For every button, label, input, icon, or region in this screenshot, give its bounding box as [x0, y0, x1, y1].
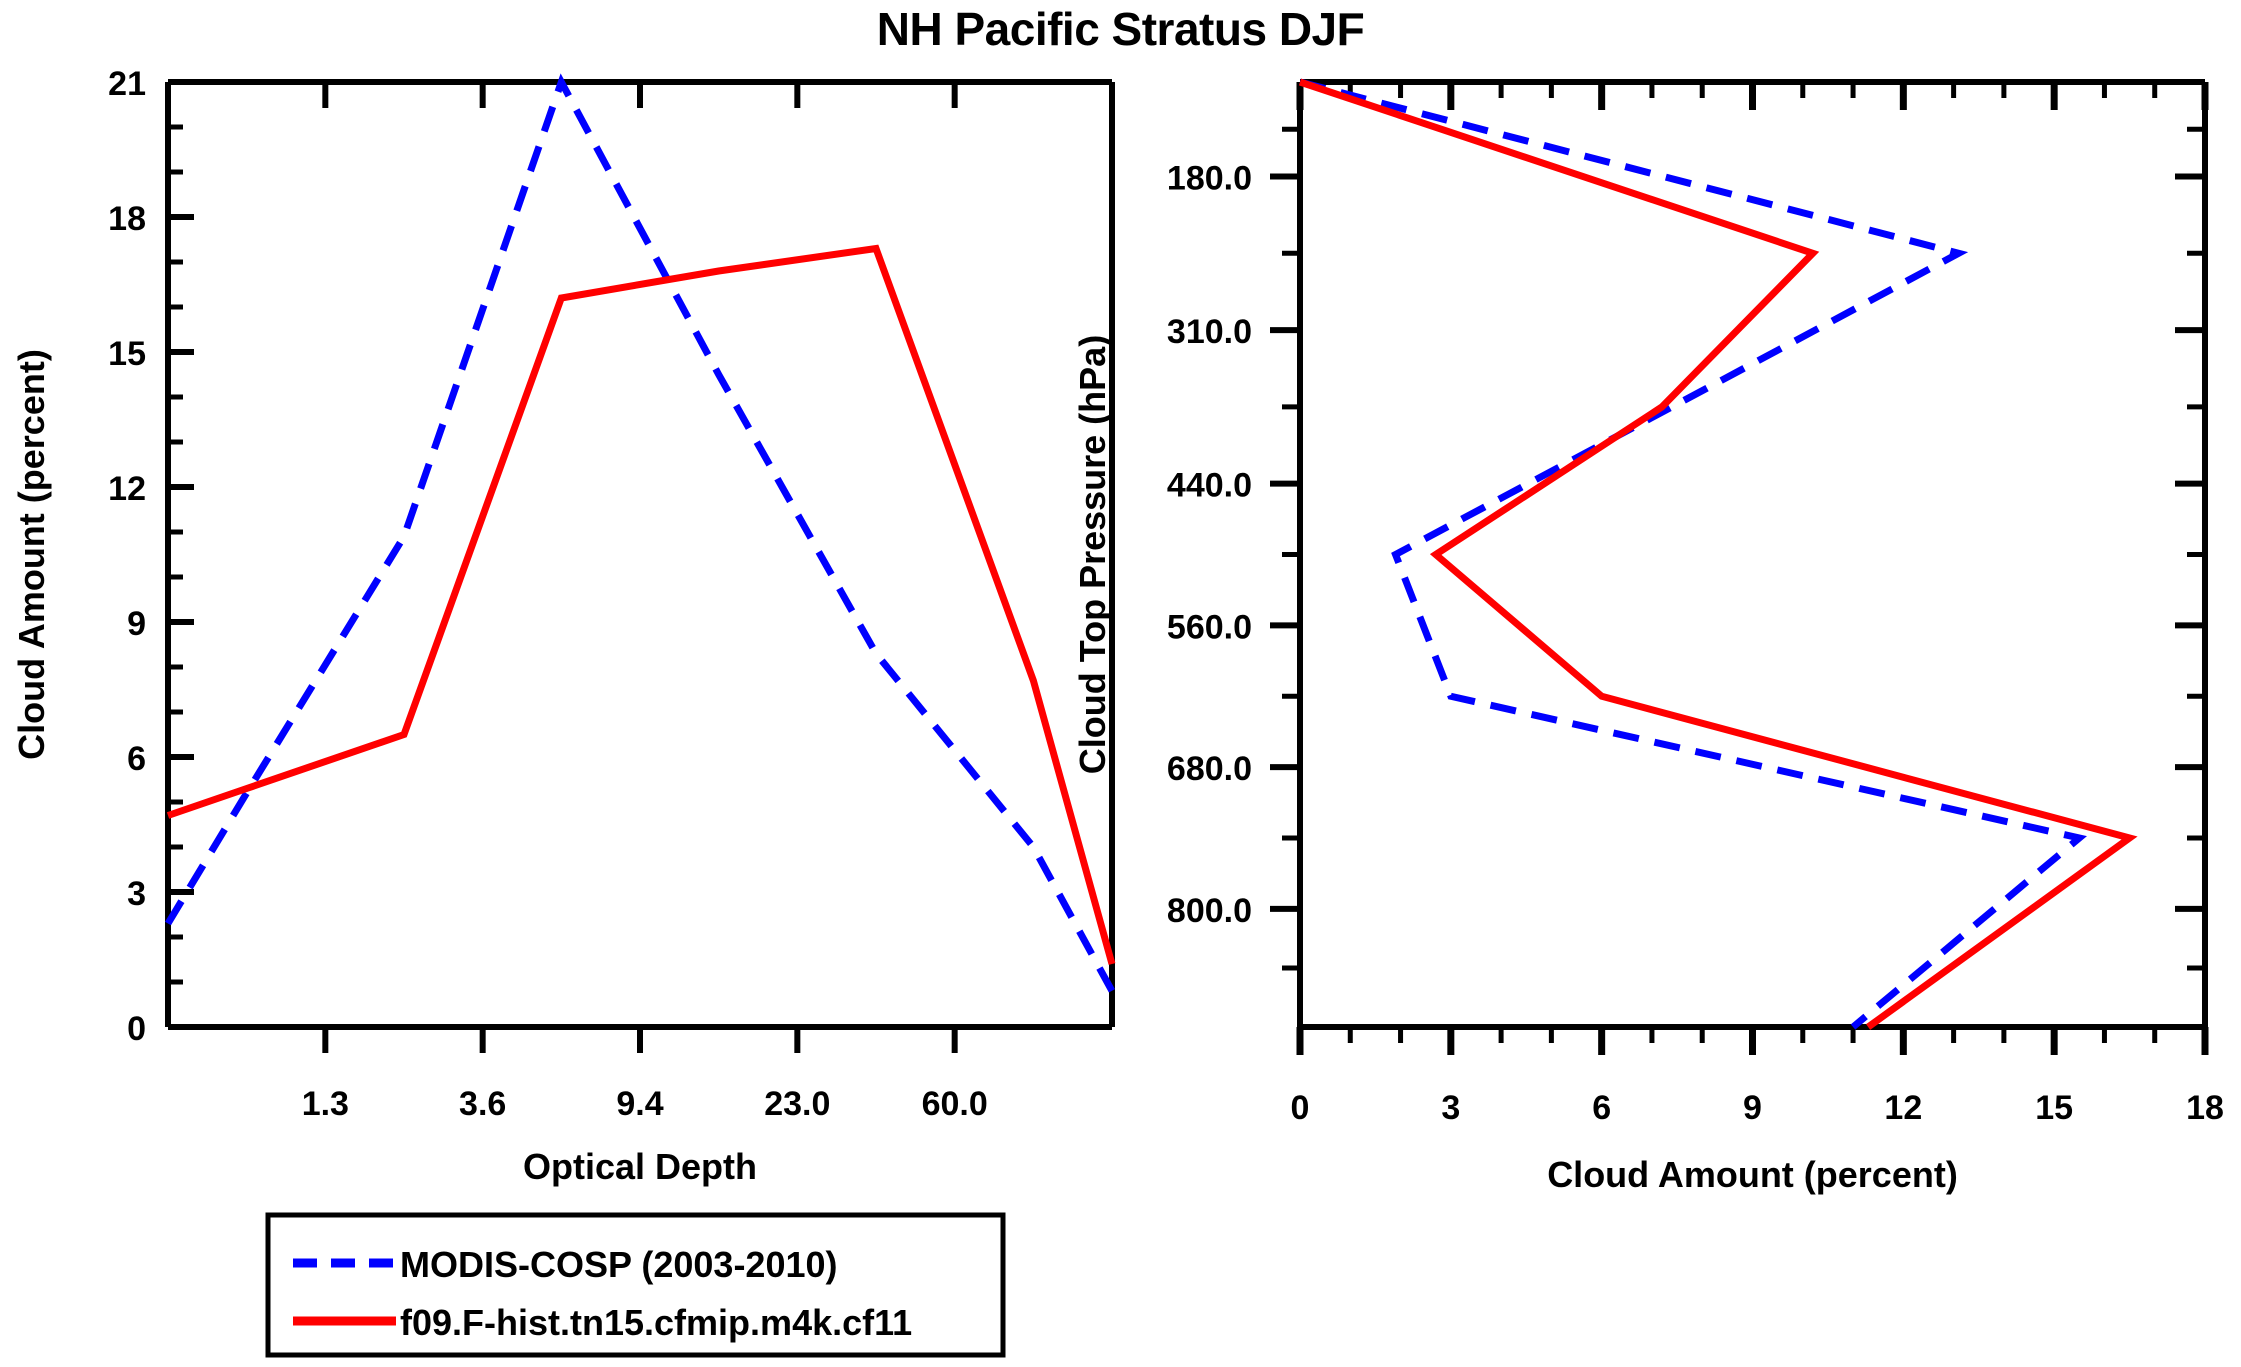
left-y-tick-label: 9	[127, 605, 146, 643]
right-y-tick-label: 440.0	[1167, 467, 1252, 505]
right-y-tick-label: 180.0	[1167, 160, 1252, 198]
legend-label-observation: MODIS-COSP (2003-2010)	[400, 1244, 838, 1285]
right-x-tick-label: 15	[2035, 1089, 2073, 1127]
left-y-tick-label: 0	[127, 1010, 146, 1048]
right-x-tick-label: 6	[1592, 1089, 1611, 1127]
left-x-tick-label: 3.6	[459, 1085, 506, 1123]
left-panel-series-observation	[168, 82, 1112, 991]
left-x-axis-title: Optical Depth	[523, 1146, 757, 1187]
right-panel-series-model	[1300, 82, 2130, 1027]
figure-root: NH Pacific Stratus DJF 0369121518211.33.…	[0, 0, 2241, 1367]
right-y-tick-label: 800.0	[1167, 892, 1252, 930]
right-x-tick-label: 9	[1743, 1089, 1762, 1127]
left-x-tick-label: 1.3	[302, 1085, 349, 1123]
left-x-tick-label: 60.0	[922, 1085, 988, 1123]
right-panel-series-observation	[1300, 82, 2079, 1027]
right-y-tick-label: 310.0	[1167, 313, 1252, 351]
right-x-tick-label: 18	[2186, 1089, 2224, 1127]
right-x-tick-label: 3	[1441, 1089, 1460, 1127]
plot-canvas: 0369121518211.33.69.423.060.0Optical Dep…	[0, 0, 2241, 1367]
right-x-axis-title: Cloud Amount (percent)	[1547, 1154, 1958, 1195]
left-x-tick-label: 23.0	[764, 1085, 830, 1123]
left-y-tick-label: 15	[108, 335, 146, 373]
legend-label-model: f09.F-hist.tn15.cfmip.m4k.cf11	[400, 1302, 912, 1343]
right-x-tick-label: 12	[1884, 1089, 1922, 1127]
left-x-tick-label: 9.4	[616, 1085, 663, 1123]
left-y-tick-label: 3	[127, 875, 146, 913]
right-y-tick-label: 680.0	[1167, 750, 1252, 788]
left-y-tick-label: 18	[108, 200, 146, 238]
right-y-axis-title: Cloud Top Pressure (hPa)	[1072, 335, 1113, 774]
left-y-tick-label: 21	[108, 65, 146, 103]
left-panel-series-model	[168, 249, 1112, 965]
right-x-tick-label: 0	[1291, 1089, 1310, 1127]
right-y-tick-label: 560.0	[1167, 608, 1252, 646]
left-y-tick-label: 12	[108, 470, 146, 508]
left-y-tick-label: 6	[127, 740, 146, 778]
left-y-axis-title: Cloud Amount (percent)	[11, 349, 52, 760]
